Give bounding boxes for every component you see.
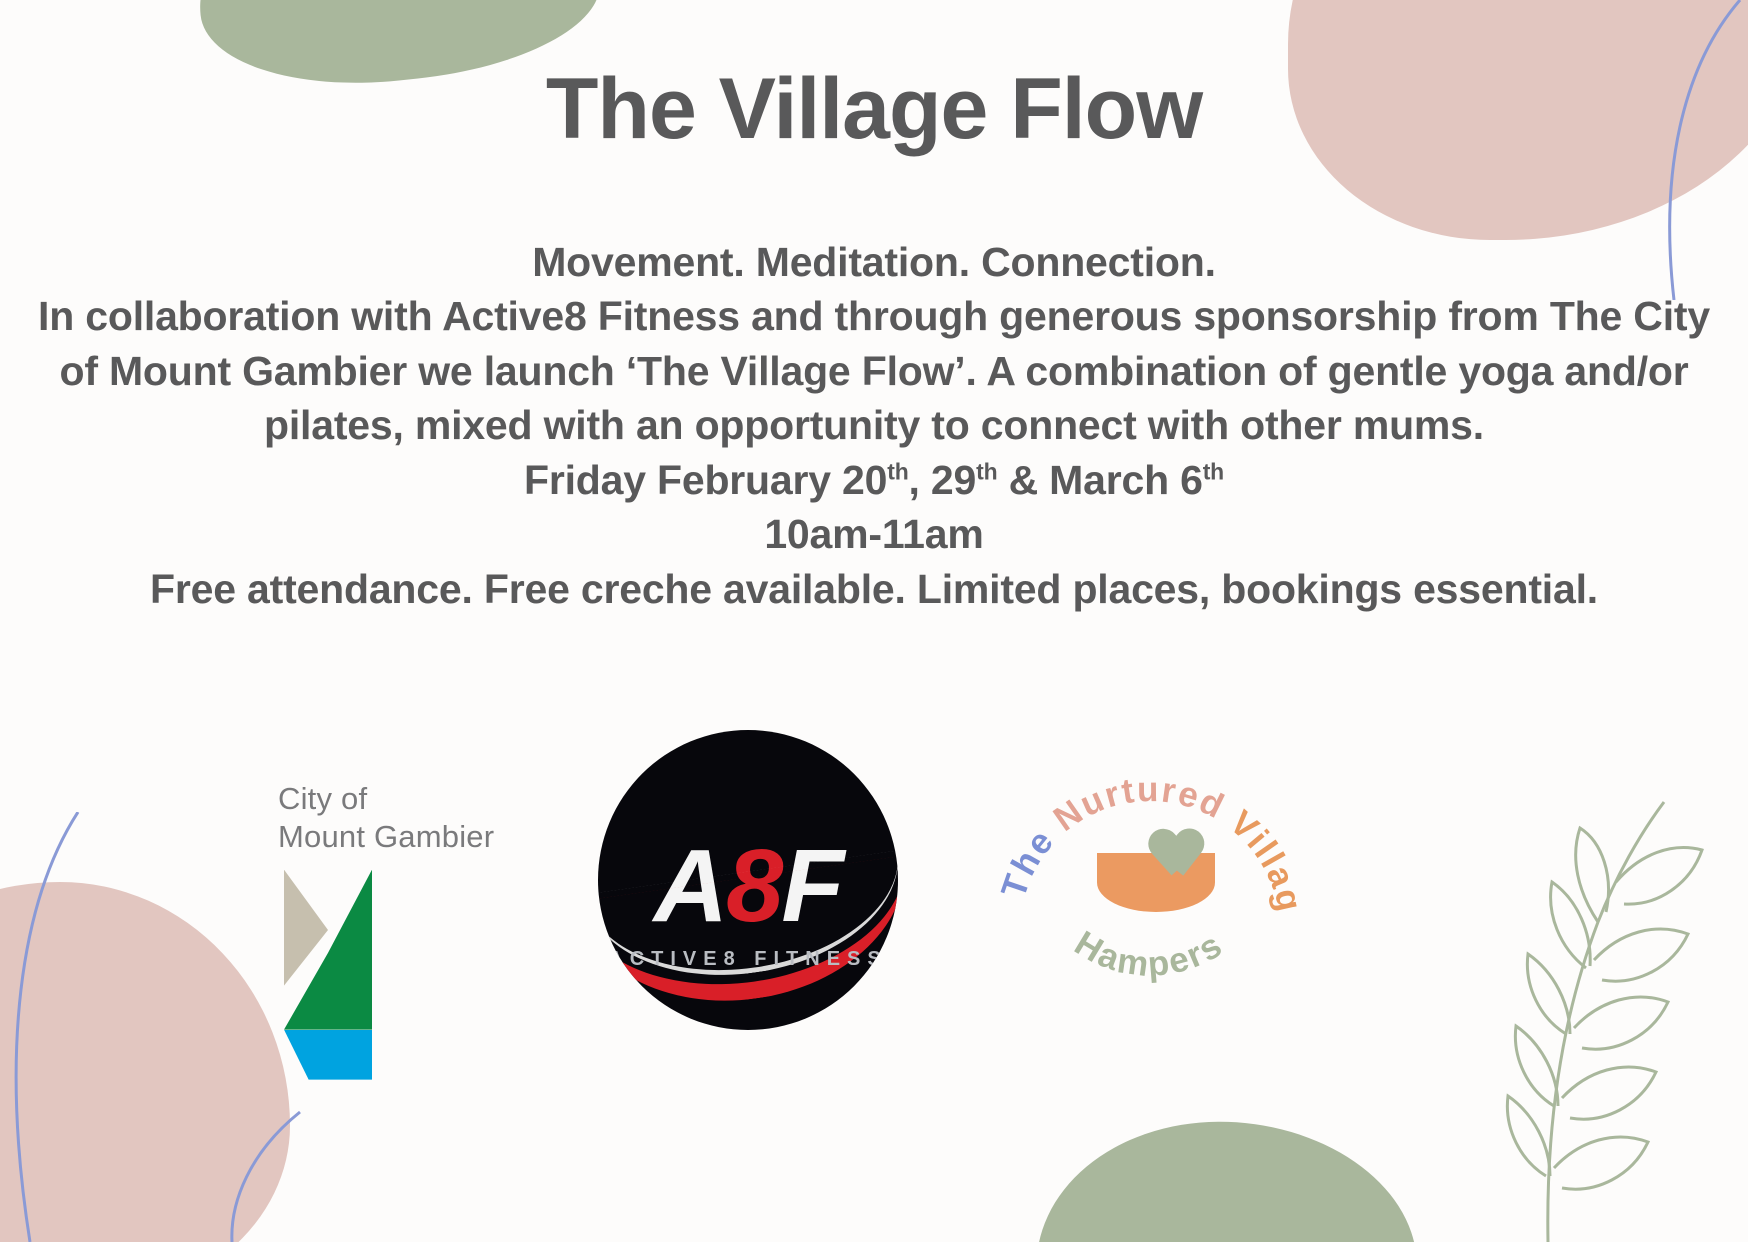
flyer-body: Movement. Meditation. Connection. In col… bbox=[29, 235, 1719, 617]
description-paragraph: In collaboration with Active8 Fitness an… bbox=[29, 289, 1719, 453]
logo-active8-fitness: A8F ACTIVE8 FITNESS bbox=[598, 730, 898, 1030]
time-line: 10am-11am bbox=[29, 507, 1719, 562]
footer-line: Free attendance. Free creche available. … bbox=[29, 562, 1719, 617]
sponsor-logo-row: City of Mount Gambier A8F ACTIVE8 FITNES… bbox=[0, 735, 1748, 1065]
date-line: Friday February 20th, 29th & March 6th bbox=[29, 453, 1719, 508]
cmg-line-2: Mount Gambier bbox=[278, 818, 518, 856]
nvh-word-hampers: Hampers bbox=[1068, 923, 1230, 984]
date-mid-1: , 29 bbox=[909, 457, 977, 503]
tagline-line: Movement. Meditation. Connection. bbox=[29, 235, 1719, 290]
date-mid-2: & March 6 bbox=[997, 457, 1202, 503]
a8f-circle: A8F ACTIVE8 FITNESS bbox=[598, 730, 898, 1030]
flyer-canvas: The Village Flow Movement. Meditation. C… bbox=[0, 0, 1748, 1242]
date-sup-3: th bbox=[1203, 458, 1224, 484]
date-prefix: Friday February 20 bbox=[524, 457, 887, 503]
logo-city-of-mount-gambier: City of Mount Gambier bbox=[278, 780, 518, 1062]
svg-text:Hampers: Hampers bbox=[1068, 923, 1230, 984]
logo-nurtured-village-hampers: The Nurtured Village Hampers bbox=[985, 725, 1315, 1055]
cmg-line-1: City of bbox=[278, 780, 518, 818]
a8f-tagline: ACTIVE8 FITNESS bbox=[598, 948, 898, 971]
flyer-content: The Village Flow Movement. Meditation. C… bbox=[0, 0, 1748, 616]
nvh-heart-icon bbox=[1153, 823, 1209, 875]
date-sup-1: th bbox=[887, 458, 908, 484]
page-title: The Village Flow bbox=[0, 62, 1748, 157]
cmg-chevron-icon bbox=[284, 870, 372, 1062]
date-sup-2: th bbox=[976, 458, 997, 484]
nvh-word-nurtured: Nurtured bbox=[1047, 770, 1245, 839]
cmg-wordmark: City of Mount Gambier bbox=[278, 780, 518, 856]
